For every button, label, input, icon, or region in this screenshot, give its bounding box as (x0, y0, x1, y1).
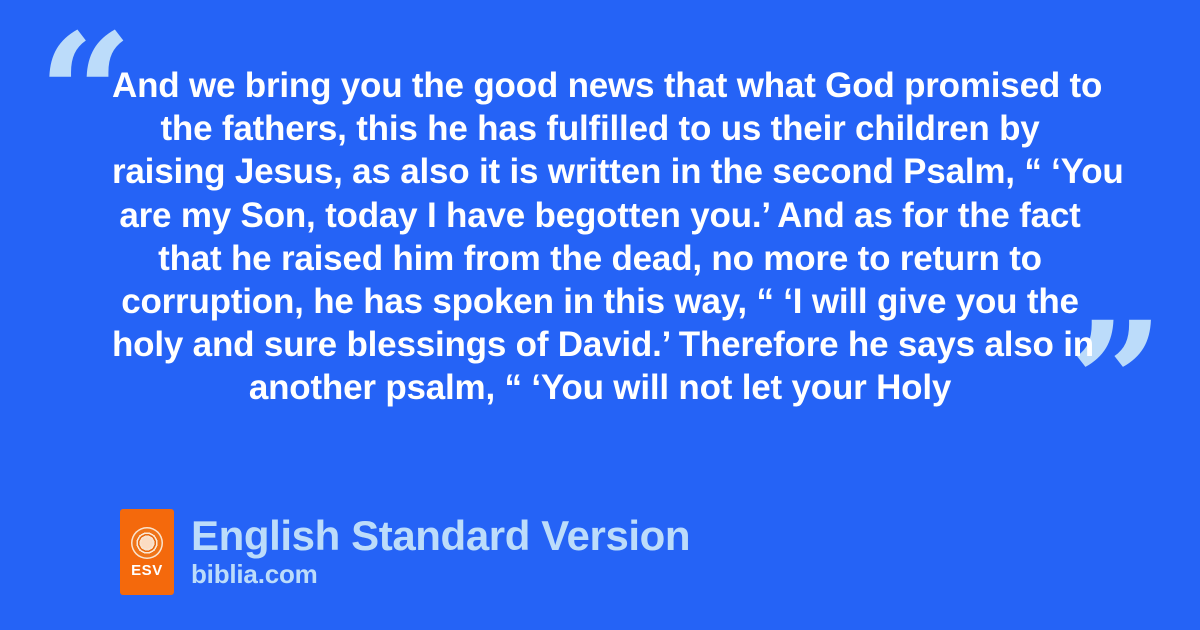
verse-card: “ ” And we bring you the good news that … (0, 0, 1200, 630)
esv-badge: ESV (120, 509, 174, 595)
esv-seal-icon (131, 527, 163, 559)
verse-line: corruption, he has spoken in this way, “… (112, 280, 1088, 323)
bible-version-title: English Standard Version (191, 514, 690, 559)
brand-text: English Standard Version biblia.com (191, 514, 690, 590)
verse-line: another psalm, “ ‘You will not let your … (112, 366, 1088, 409)
esv-abbreviation-label: ESV (131, 563, 163, 578)
verse-line: the fathers, this he has fulfilled to us… (112, 107, 1088, 150)
brand-block: ESV English Standard Version biblia.com (120, 509, 690, 595)
verse-line: are my Son, today I have begotten you.’ … (112, 194, 1088, 237)
website-label[interactable]: biblia.com (191, 560, 690, 590)
verse-line: And we bring you the good news that what… (112, 64, 1088, 107)
verse-text-block: And we bring you the good news that what… (112, 64, 1088, 410)
verse-line: raising Jesus, as also it is written in … (112, 150, 1088, 193)
verse-line: that he raised him from the dead, no mor… (112, 237, 1088, 280)
verse-line: holy and sure blessings of David.’ There… (112, 323, 1088, 366)
